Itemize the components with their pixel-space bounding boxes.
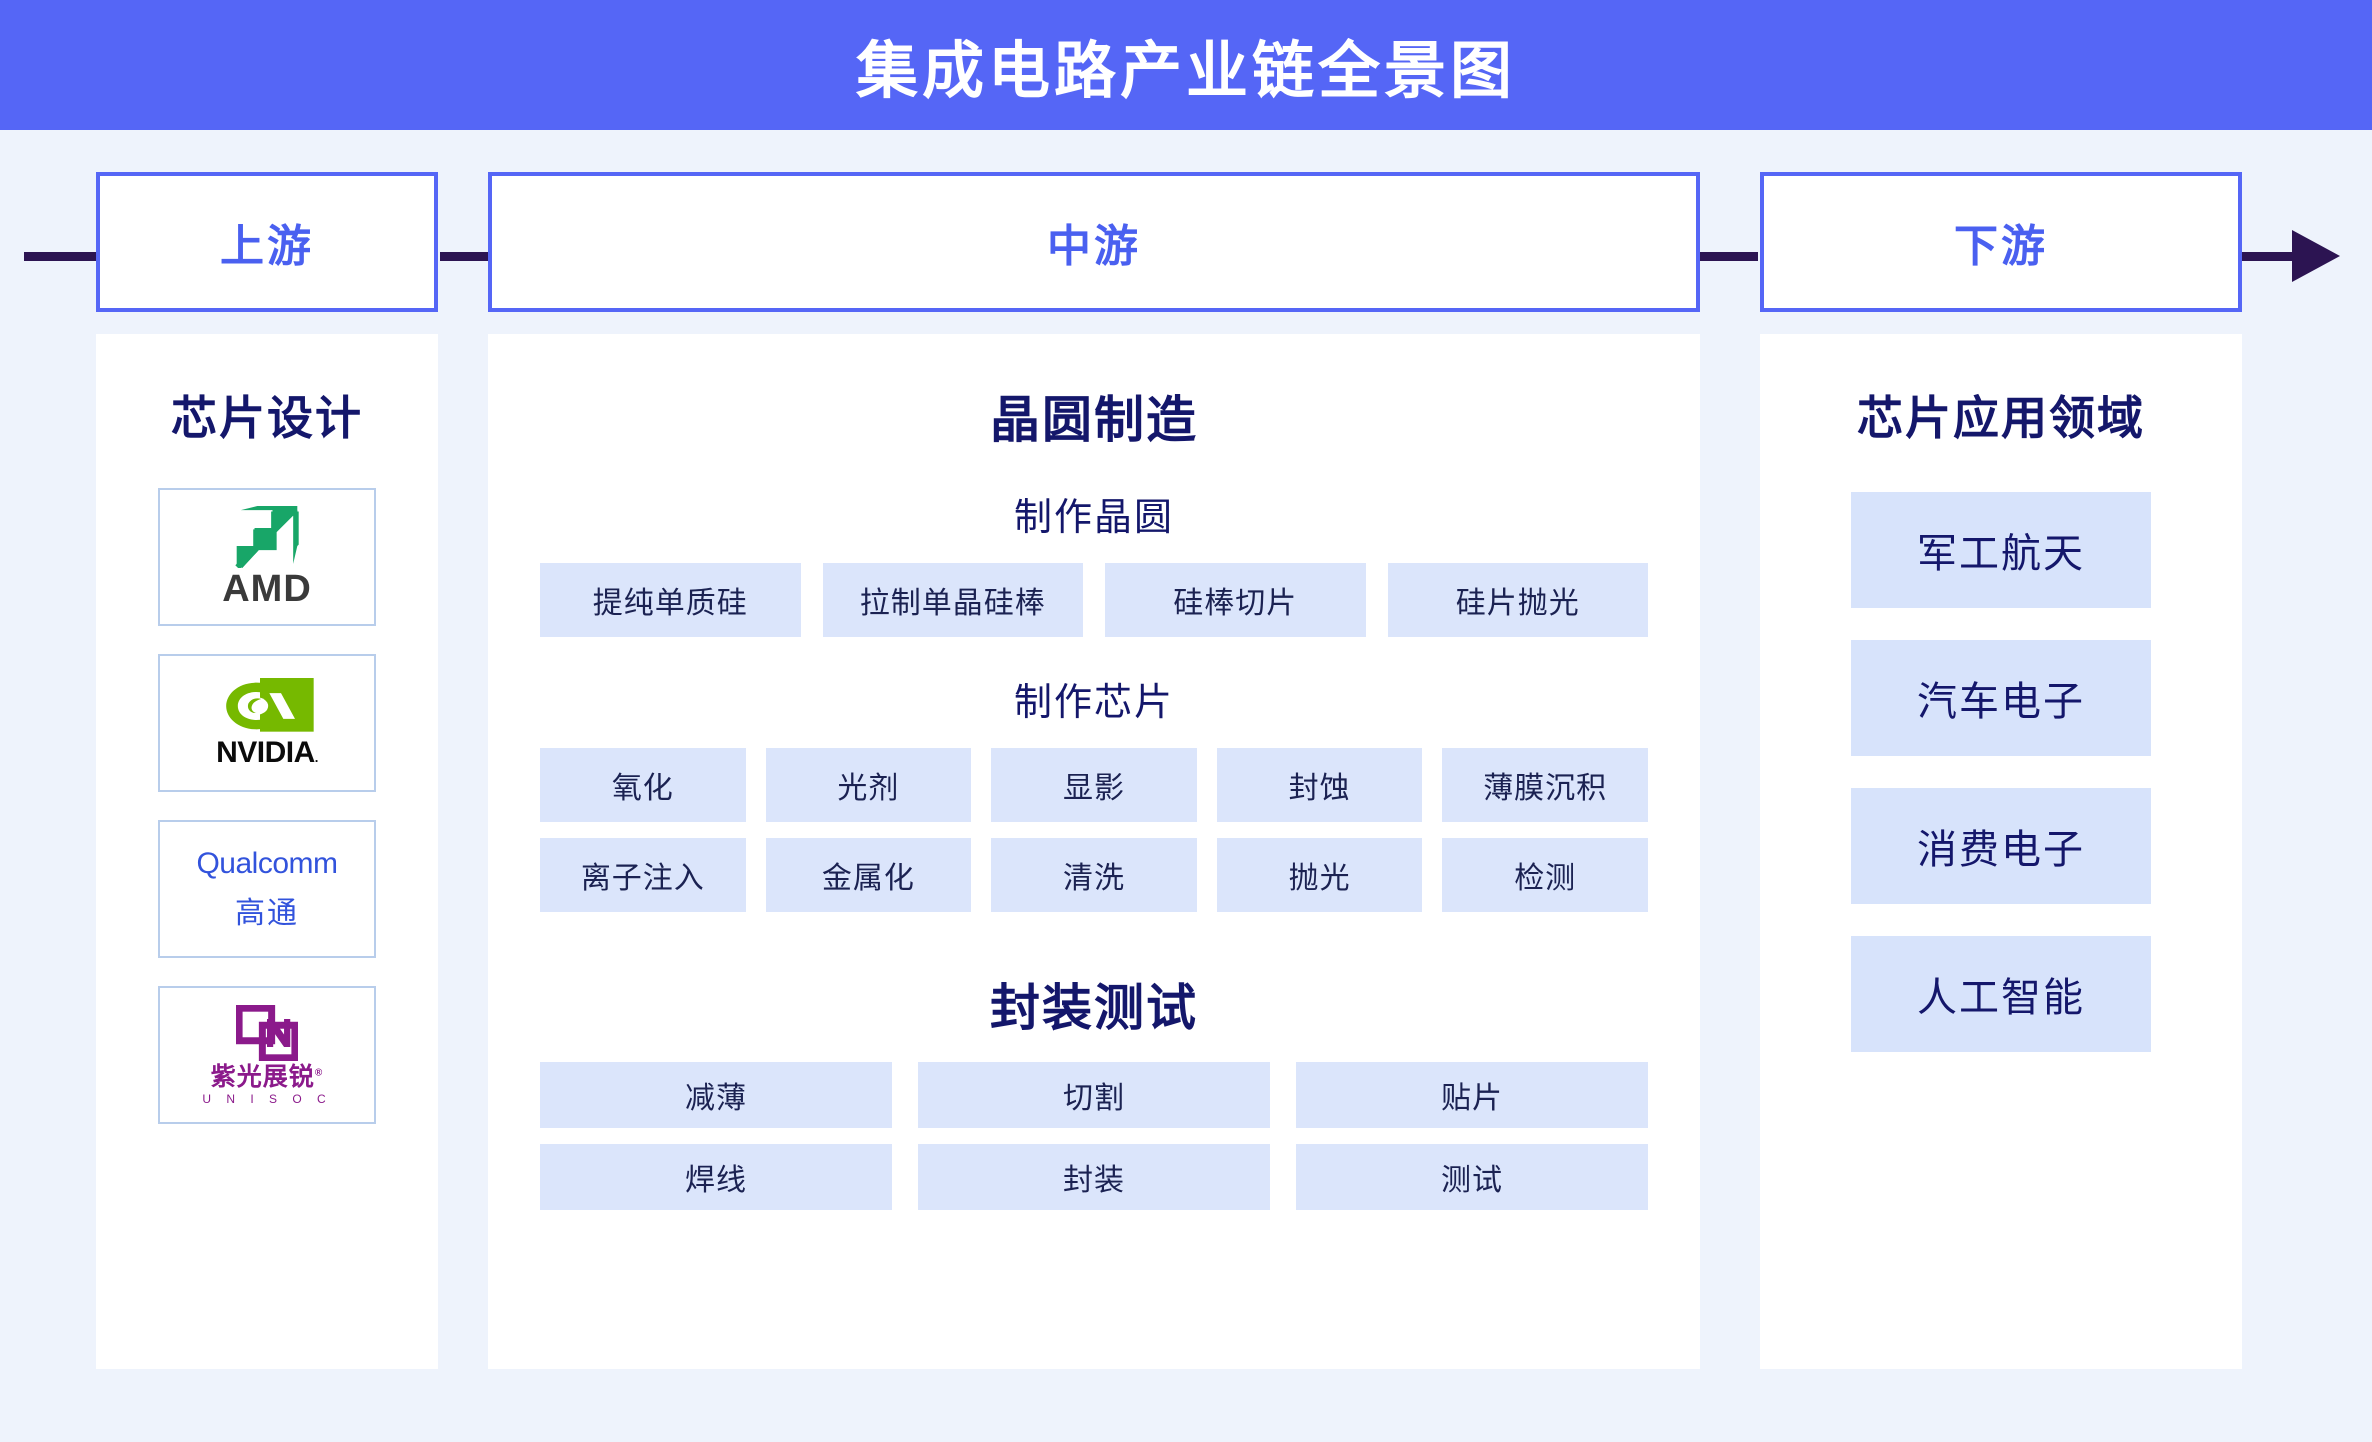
company-wordmark-amd: AMD — [222, 570, 312, 608]
process-chip[interactable]: 离子注入 — [540, 838, 746, 912]
amd-logo-icon — [232, 506, 302, 568]
process-chip[interactable]: 减薄 — [540, 1062, 892, 1128]
flow-stage-midstream[interactable]: 中游 — [488, 172, 1700, 312]
nvidia-logo-icon — [219, 678, 315, 734]
subsection-title-make-chip: 制作芯片 — [488, 671, 1700, 726]
process-chip[interactable]: 切割 — [918, 1062, 1270, 1128]
company-wordmark-qualcomm: Qualcomm — [196, 847, 337, 880]
panel-wafer-manufacturing: 晶圆制造 制作晶圆 提纯单质硅 拉制单晶硅棒 硅棒切片 硅片抛光 制作芯片 氧化… — [488, 334, 1700, 1369]
page-title: 集成电路产业链全景图 — [856, 20, 1516, 110]
process-chip[interactable]: 薄膜沉积 — [1442, 748, 1648, 822]
connector-line-midstream-downstream — [1700, 252, 1758, 261]
process-chip[interactable]: 测试 — [1296, 1144, 1648, 1210]
company-name-cn-unisoc: 紫光展锐® — [211, 1065, 323, 1090]
process-chip[interactable]: 硅片抛光 — [1388, 563, 1649, 637]
content-columns: 芯片设计 AMD NVIDIA. — [0, 334, 2372, 1369]
connector-line-start — [24, 252, 100, 261]
flow-stage-downstream[interactable]: 下游 — [1760, 172, 2242, 312]
packaging-testing-title: 封装测试 — [488, 968, 1700, 1040]
company-card-qualcomm[interactable]: Qualcomm 高通 — [158, 820, 376, 958]
process-row-make-chip-2: 离子注入 金属化 清洗 抛光 检测 — [488, 838, 1700, 912]
process-chip[interactable]: 封装 — [918, 1144, 1270, 1210]
application-chip[interactable]: 军工航天 — [1851, 492, 2151, 608]
process-chip[interactable]: 清洗 — [991, 838, 1197, 912]
chip-design-title: 芯片设计 — [96, 382, 438, 448]
flow-stage-midstream-label: 中游 — [1047, 210, 1141, 274]
application-chip[interactable]: 汽车电子 — [1851, 640, 2151, 756]
arrow-right-icon — [2292, 230, 2340, 282]
packaging-row-2: 焊线 封装 测试 — [488, 1144, 1700, 1210]
company-name-en-unisoc: U N I S O C — [202, 1093, 331, 1105]
application-chip[interactable]: 人工智能 — [1851, 936, 2151, 1052]
chip-applications-list: 军工航天 汽车电子 消费电子 人工智能 — [1760, 492, 2242, 1052]
process-chip[interactable]: 贴片 — [1296, 1062, 1648, 1128]
subsection-title-make-wafer: 制作晶圆 — [488, 486, 1700, 541]
chip-applications-title: 芯片应用领域 — [1760, 382, 2242, 448]
process-chip[interactable]: 检测 — [1442, 838, 1648, 912]
process-chip[interactable]: 提纯单质硅 — [540, 563, 801, 637]
process-chip[interactable]: 抛光 — [1217, 838, 1423, 912]
flow-stage-upstream[interactable]: 上游 — [96, 172, 438, 312]
panel-chip-design: 芯片设计 AMD NVIDIA. — [96, 334, 438, 1369]
process-chip[interactable]: 氧化 — [540, 748, 746, 822]
value-chain-flowbar: 上游 中游 下游 — [0, 172, 2372, 312]
process-chip[interactable]: 封蚀 — [1217, 748, 1423, 822]
process-chip[interactable]: 显影 — [991, 748, 1197, 822]
process-row-make-wafer: 提纯单质硅 拉制单晶硅棒 硅棒切片 硅片抛光 — [488, 563, 1700, 637]
process-chip[interactable]: 光剂 — [766, 748, 972, 822]
process-chip[interactable]: 硅棒切片 — [1105, 563, 1366, 637]
application-chip[interactable]: 消费电子 — [1851, 788, 2151, 904]
company-card-unisoc[interactable]: 紫光展锐® U N I S O C — [158, 986, 376, 1124]
flow-stage-upstream-label: 上游 — [220, 210, 314, 274]
company-wordmark-nvidia: NVIDIA. — [216, 738, 318, 768]
panel-chip-applications: 芯片应用领域 军工航天 汽车电子 消费电子 人工智能 — [1760, 334, 2242, 1369]
packaging-row-1: 减薄 切割 贴片 — [488, 1062, 1700, 1128]
page-header: 集成电路产业链全景图 — [0, 0, 2372, 130]
process-chip[interactable]: 金属化 — [766, 838, 972, 912]
flow-stage-downstream-label: 下游 — [1954, 210, 2048, 274]
chip-design-company-list: AMD NVIDIA. Qualcomm 高通 — [96, 488, 438, 1124]
company-card-nvidia[interactable]: NVIDIA. — [158, 654, 376, 792]
unisoc-logo-icon — [236, 1005, 298, 1061]
process-chip[interactable]: 焊线 — [540, 1144, 892, 1210]
company-card-amd[interactable]: AMD — [158, 488, 376, 626]
process-row-make-chip-1: 氧化 光剂 显影 封蚀 薄膜沉积 — [488, 748, 1700, 822]
connector-line-end — [2240, 252, 2296, 261]
wafer-manufacturing-title: 晶圆制造 — [488, 380, 1700, 452]
company-name-cn-qualcomm: 高通 — [235, 888, 299, 932]
process-chip[interactable]: 拉制单晶硅棒 — [823, 563, 1084, 637]
